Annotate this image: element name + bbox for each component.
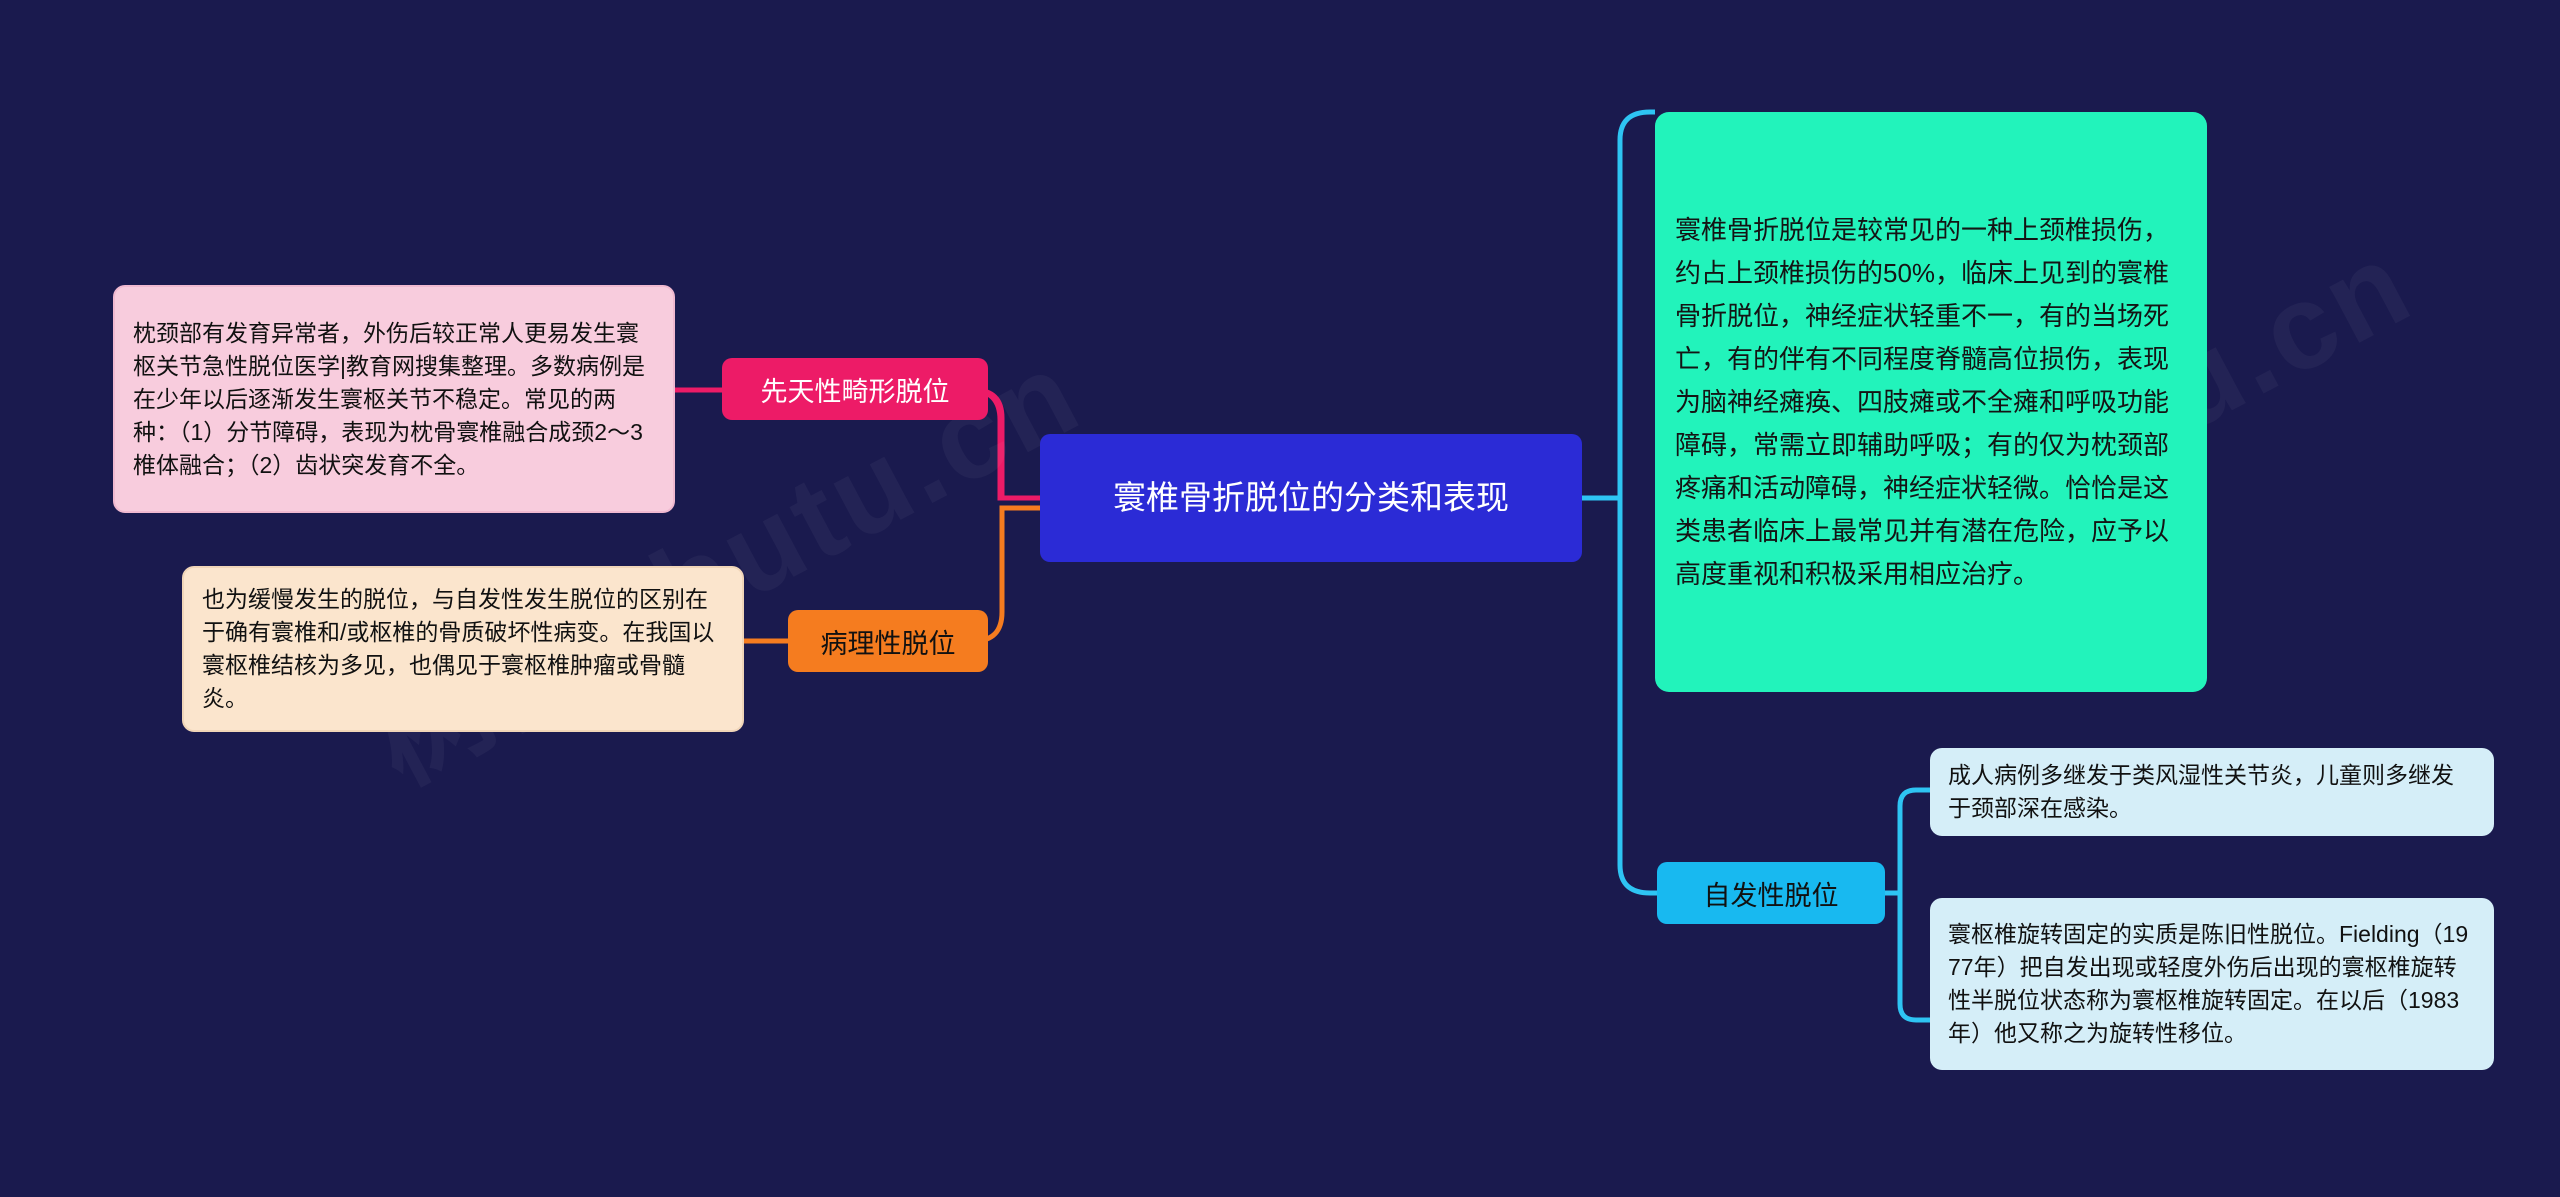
leaf-overview-text: 寰椎骨折脱位是较常见的一种上颈椎损伤，约占上颈椎损伤的50%，临床上见到的寰椎骨… — [1655, 209, 2207, 596]
leaf-spontaneous-detail-a[interactable]: 成人病例多继发于类风湿性关节炎，儿童则多继发于颈部深在感染。 — [1930, 748, 2494, 836]
branch-label-congenital-text: 先天性畸形脱位 — [722, 370, 988, 409]
branch-label-congenital[interactable]: 先天性畸形脱位 — [722, 358, 988, 420]
center-node-title: 寰椎骨折脱位的分类和表现 — [1040, 474, 1582, 522]
branch-label-pathologic-text: 病理性脱位 — [788, 622, 988, 661]
leaf-congenital-detail[interactable]: 枕颈部有发育异常者，外伤后较正常人更易发生寰枢关节急性脱位医学|教育网搜集整理。… — [113, 285, 675, 513]
connector-spontaneous-to-leaf-a — [1885, 790, 1930, 893]
leaf-pathologic-text: 也为缓慢发生的脱位，与自发性发生脱位的区别在于确有寰椎和/或枢椎的骨质破坏性病变… — [184, 583, 742, 715]
leaf-spontaneous-detail-b[interactable]: 寰枢椎旋转固定的实质是陈旧性脱位。Fielding（1977年）把自发出现或轻度… — [1930, 898, 2494, 1070]
connector-center-to-spontaneous — [1582, 498, 1657, 893]
leaf-pathologic-detail[interactable]: 也为缓慢发生的脱位，与自发性发生脱位的区别在于确有寰椎和/或枢椎的骨质破坏性病变… — [182, 566, 744, 732]
leaf-spontaneous-b-text: 寰枢椎旋转固定的实质是陈旧性脱位。Fielding（1977年）把自发出现或轻度… — [1930, 918, 2494, 1050]
connector-center-to-overview — [1582, 112, 1655, 498]
branch-label-spontaneous-text: 自发性脱位 — [1657, 874, 1885, 913]
leaf-congenital-text: 枕颈部有发育异常者，外伤后较正常人更易发生寰枢关节急性脱位医学|教育网搜集整理。… — [115, 317, 673, 482]
center-node[interactable]: 寰椎骨折脱位的分类和表现 — [1040, 434, 1582, 562]
branch-label-spontaneous[interactable]: 自发性脱位 — [1657, 862, 1885, 924]
branch-label-pathologic[interactable]: 病理性脱位 — [788, 610, 988, 672]
leaf-spontaneous-a-text: 成人病例多继发于类风湿性关节炎，儿童则多继发于颈部深在感染。 — [1930, 759, 2494, 825]
connector-spontaneous-to-leaf-b — [1885, 893, 1930, 1020]
leaf-overview-detail[interactable]: 寰椎骨折脱位是较常见的一种上颈椎损伤，约占上颈椎损伤的50%，临床上见到的寰椎骨… — [1655, 112, 2207, 692]
